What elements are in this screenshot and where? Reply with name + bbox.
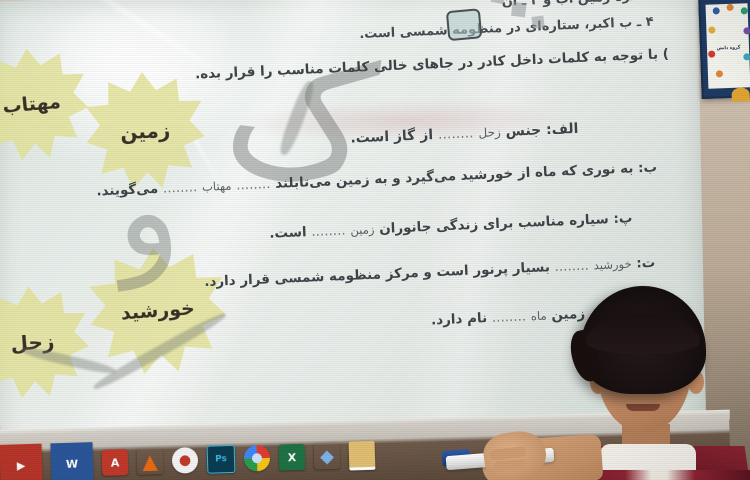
item-after-pe: است. [269, 224, 307, 242]
gem-icon[interactable]: ◆ [314, 443, 341, 470]
item-blank-be-2: ........ [163, 179, 198, 196]
item-blank-te: ........ [554, 258, 589, 275]
star-label: مهتاب [2, 91, 62, 118]
drawn-rectangle-icon [446, 8, 483, 41]
word-bank-star-zohal[interactable]: زحل [0, 282, 92, 402]
icon-glyph: A [111, 456, 120, 469]
item-label-be: ب: [638, 159, 658, 176]
screen-recorder-icon[interactable]: ● [172, 447, 199, 474]
star-label: خورشید [120, 297, 195, 324]
word-bank-star-zamin[interactable]: زمین [83, 69, 207, 193]
bulletin-dot-7 [743, 53, 750, 60]
bulletin-dot-5 [743, 27, 750, 34]
item-after-alef: از گاز است. [350, 127, 433, 147]
mouth [626, 404, 660, 411]
grey-block-2 [531, 15, 544, 28]
item-label-te: ت: [636, 255, 656, 272]
chrome-icon[interactable] [244, 445, 271, 472]
word-bank-star-mahtab[interactable]: مهتاب [0, 44, 92, 166]
item-before-alef: جنس [505, 122, 541, 140]
item-after-te: بسیار پرنور است و مرکز منظومه شمسی قرار … [203, 259, 549, 290]
icon-glyph: ▲ [142, 449, 158, 473]
worksheet-line-q4: ۴ ـ ب اکبر، ستاره‌ای در منظومه شمسی است. [359, 15, 654, 43]
classroom-screenshot: مهتاب زمین زحل خورشید ک و ۳ ـ کره زمین آ… [0, 0, 750, 480]
photoshop-icon[interactable]: Ps [207, 445, 236, 474]
item-answer-te: خورشید [593, 257, 632, 273]
star-label: زمین [120, 118, 171, 145]
icon-glyph: ● [179, 452, 192, 468]
word-bank-star-khorshid[interactable]: خورشید [85, 243, 230, 379]
bulletin-sun-icon [731, 87, 749, 102]
chrome-center [252, 453, 262, 463]
item-answer-alef: زحل [478, 125, 501, 140]
item-after-be: می‌گویند. [96, 181, 158, 200]
file-explorer-icon[interactable] [349, 440, 376, 470]
item-blank-alef: ........ [437, 125, 473, 143]
icon-glyph: Ps [215, 454, 227, 464]
excel-icon[interactable]: X [279, 444, 306, 471]
item-answer-be: مهتاب [202, 179, 232, 194]
bulletin-title: گروه دانش [711, 45, 746, 51]
wall-bulletin-board: گروه دانش [698, 0, 750, 99]
item-after-se: نام دارد. [431, 310, 488, 328]
item-blank-se: ........ [491, 308, 526, 325]
icon-glyph: W [66, 457, 79, 470]
item-blank-be: ........ [236, 176, 271, 193]
worksheet-item-alef: الف: جنس زحل ........ از گاز است. [350, 121, 579, 147]
item-answer-se: ماه [530, 309, 546, 324]
item-before-be: به نوری که ماه از خورشید می‌گیرد و به زم… [275, 160, 634, 191]
icon-glyph: ◆ [320, 445, 334, 466]
worksheet-instruction-line: ) با توجه به کلمات داخل کادر در جاهای خا… [195, 46, 669, 82]
media-player-icon[interactable]: ▶ [0, 444, 43, 480]
star-label: زحل [10, 329, 55, 356]
word-document-icon[interactable]: W [50, 442, 93, 480]
item-label-alef: الف: [546, 121, 579, 138]
icon-glyph: ▶ [17, 459, 26, 472]
item-blank-pe: ........ [311, 222, 346, 239]
item-label-pe: پ: [613, 210, 633, 227]
vlc-player-icon[interactable]: ▲ [137, 448, 164, 475]
item-before-pe: سیاره مناسب برای زندگی جانوران [378, 211, 608, 237]
grey-block-1 [511, 2, 527, 18]
worksheet-item-te: ت: خورشید ........ بسیار پرنور است و مرک… [203, 255, 655, 290]
worksheet-item-pe: پ: سیاره مناسب برای زندگی جانوران زمین .… [269, 210, 633, 242]
adobe-acrobat-icon[interactable]: A [102, 449, 129, 476]
bulletin-paper: گروه دانش [706, 3, 750, 88]
icon-glyph: X [288, 451, 297, 464]
item-answer-pe: زمین [350, 222, 375, 237]
